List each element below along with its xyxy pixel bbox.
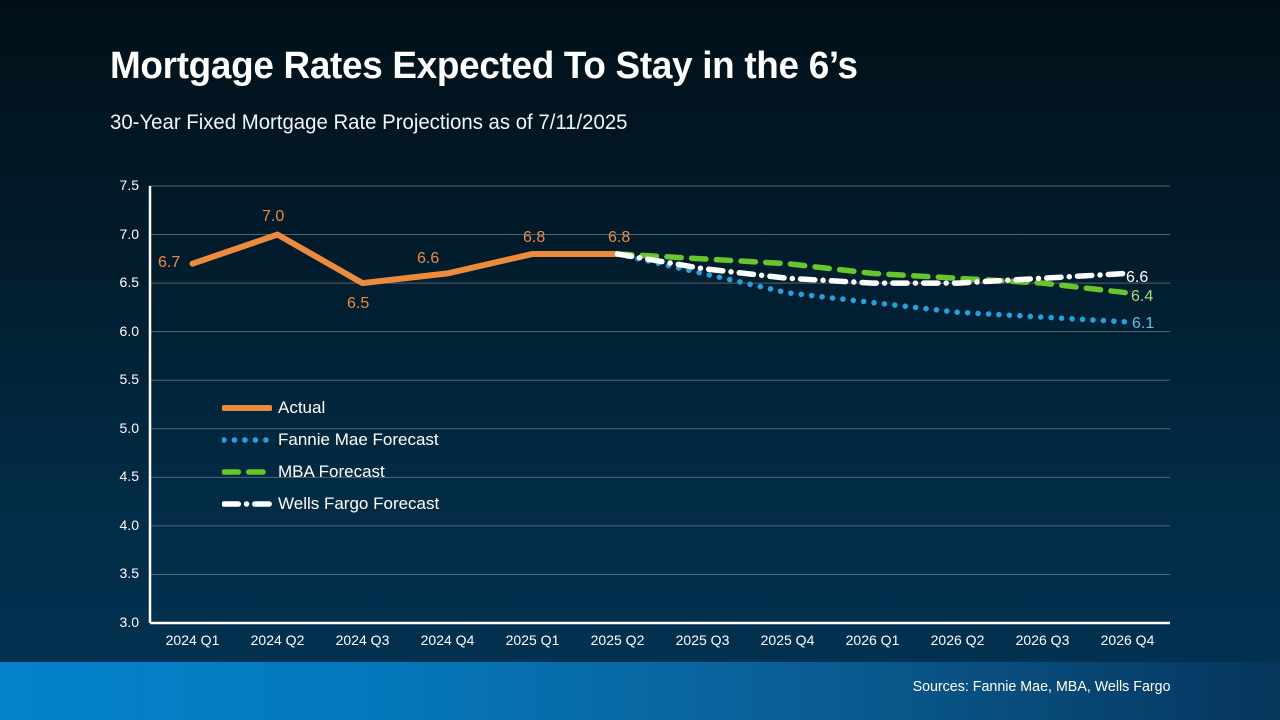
legend-label: Actual: [278, 398, 325, 418]
legend-label: Fannie Mae Forecast: [278, 430, 439, 450]
data-point-label: 6.4: [1131, 288, 1153, 306]
y-axis-tick-label: 3.5: [93, 565, 139, 581]
legend-label: Wells Fargo Forecast: [278, 494, 439, 514]
legend-label: MBA Forecast: [278, 462, 385, 482]
y-axis-tick-label: 4.5: [93, 468, 139, 484]
y-axis-tick-label: 4.0: [93, 517, 139, 533]
y-axis-tick-label: 7.0: [93, 226, 139, 242]
legend-item[interactable]: Wells Fargo Forecast: [222, 488, 439, 520]
legend-item[interactable]: MBA Forecast: [222, 456, 439, 488]
data-point-label: 6.8: [608, 229, 630, 247]
y-axis-tick-label: 7.5: [93, 177, 139, 193]
y-axis-tick-label: 6.5: [93, 274, 139, 290]
data-point-label: 6.8: [523, 229, 545, 247]
footer-bar: Sources: Fannie Mae, MBA, Wells Fargo: [0, 662, 1280, 720]
series-line-fannie-mae-forecast: [618, 254, 1128, 322]
x-axis-tick-label: 2026 Q4: [1078, 632, 1178, 648]
data-point-label: 6.5: [347, 295, 369, 313]
data-point-label: 6.6: [1126, 269, 1148, 287]
chart-plot-area: 7.57.06.56.05.55.04.54.03.53.0 2024 Q120…: [0, 0, 1280, 660]
data-point-label: 7.0: [262, 208, 284, 226]
data-point-label: 6.7: [158, 254, 180, 272]
y-axis-tick-label: 3.0: [93, 614, 139, 630]
legend-item[interactable]: Actual: [222, 392, 439, 424]
data-point-label: 6.6: [417, 250, 439, 268]
sources-text: Sources: Fannie Mae, MBA, Wells Fargo: [912, 678, 1170, 695]
series-lines: [193, 235, 1128, 322]
data-point-label: 6.1: [1132, 315, 1154, 333]
series-line-actual: [193, 235, 618, 284]
legend-swatch-icon: [222, 497, 272, 511]
chart-legend: ActualFannie Mae ForecastMBA ForecastWel…: [222, 392, 439, 520]
legend-swatch-icon: [222, 465, 272, 479]
line-chart-svg: [0, 0, 1280, 660]
legend-swatch-icon: [222, 433, 272, 447]
y-axis-tick-label: 5.5: [93, 371, 139, 387]
legend-swatch-icon: [222, 401, 272, 415]
legend-item[interactable]: Fannie Mae Forecast: [222, 424, 439, 456]
series-line-mba-forecast: [618, 254, 1128, 293]
y-axis-tick-label: 6.0: [93, 323, 139, 339]
y-axis-tick-label: 5.0: [93, 420, 139, 436]
